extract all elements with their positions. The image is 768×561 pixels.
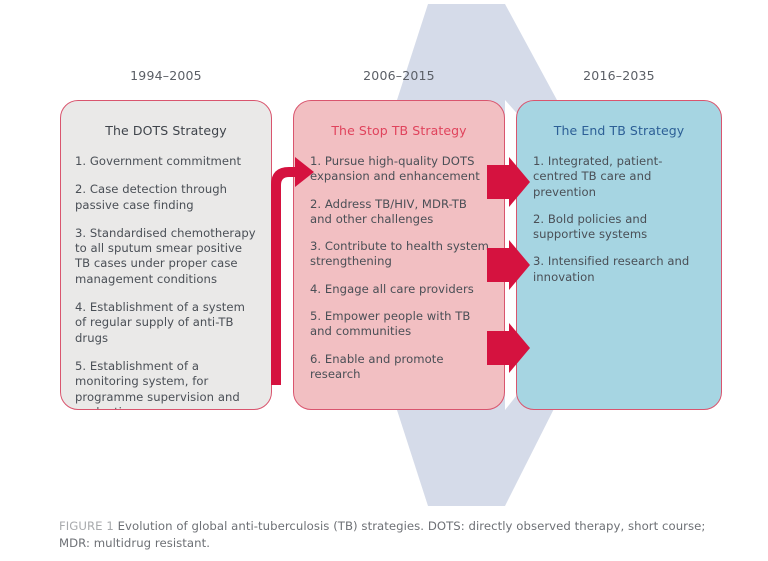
list-item: 1. Integrated, patient-centred TB care a… <box>533 154 707 200</box>
list-item: 1. Pursue high-quality DOTS expansion an… <box>310 154 490 185</box>
list-item: 2. Bold policies and supportive systems <box>533 212 707 243</box>
year-label-column-2: 2006–2015 <box>293 68 505 83</box>
list-item: 2. Address TB/HIV, MDR-TB and other chal… <box>310 197 490 228</box>
list-item: 2. Case detection through passive case f… <box>75 182 257 213</box>
list-item: 4. Engage all care providers <box>310 282 490 297</box>
figure-diagram: 1994–2005 2006–2015 2016–2035 The DOTS S… <box>0 0 768 561</box>
strategy-panel-end-tb: The End TB Strategy 1. Integrated, patie… <box>516 100 722 410</box>
list-item: 5. Empower people with TB and communitie… <box>310 309 490 340</box>
panel-items-dots: 1. Government commitment 2. Case detecti… <box>75 154 257 410</box>
year-label-column-1: 1994–2005 <box>60 68 272 83</box>
list-item: 5. Establishment of a monitoring system,… <box>75 359 257 410</box>
panel-title-end-tb: The End TB Strategy <box>527 123 711 138</box>
panel-title-dots: The DOTS Strategy <box>71 123 261 138</box>
panel-title-stop-tb: The Stop TB Strategy <box>304 123 494 138</box>
figure-caption-text: Evolution of global anti-tuberculosis (T… <box>59 519 705 550</box>
panel-items-stop-tb: 1. Pursue high-quality DOTS expansion an… <box>310 154 490 382</box>
figure-caption-label: FIGURE 1 <box>59 519 114 533</box>
list-item: 6. Enable and promote research <box>310 352 490 383</box>
list-item: 4. Establishment of a system of regular … <box>75 300 257 346</box>
strategy-panel-dots: The DOTS Strategy 1. Government commitme… <box>60 100 272 410</box>
panel-items-end-tb: 1. Integrated, patient-centred TB care a… <box>533 154 707 285</box>
list-item: 3. Contribute to health system strengthe… <box>310 239 490 270</box>
year-label-column-3: 2016–2035 <box>516 68 722 83</box>
list-item: 1. Government commitment <box>75 154 257 169</box>
list-item: 3. Intensified research and innovation <box>533 254 707 285</box>
list-item: 3. Standardised chemotherapy to all sput… <box>75 226 257 287</box>
strategy-panel-stop-tb: The Stop TB Strategy 1. Pursue high-qual… <box>293 100 505 410</box>
figure-caption: FIGURE 1 Evolution of global anti-tuberc… <box>59 518 719 551</box>
